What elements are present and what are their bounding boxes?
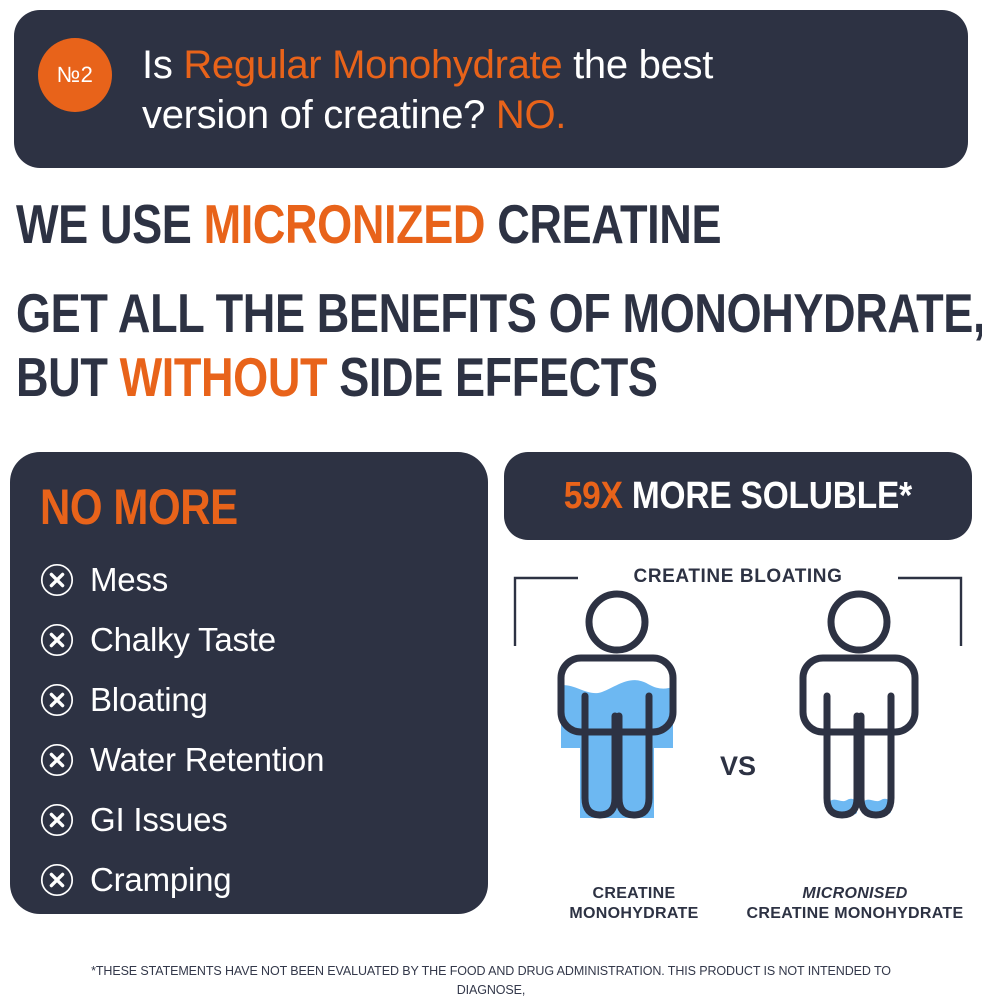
no-more-title: NO MORE <box>40 478 391 536</box>
headline1-suffix: CREATINE <box>485 193 721 255</box>
list-item-label: Water Retention <box>90 741 324 779</box>
list-item-label: Cramping <box>90 861 231 899</box>
caption-left-line1: CREATINE <box>524 884 744 904</box>
caption-left-line2: MONOHYDRATE <box>524 904 744 924</box>
infographic-page: №2 Is Regular Monohydrate the best versi… <box>0 0 982 1003</box>
headline3-suffix: SIDE EFFECTS <box>327 346 657 408</box>
list-item-label: Bloating <box>90 681 208 719</box>
headline1-highlight: MICRONIZED <box>204 193 486 255</box>
bloating-comparison-diagram: CREATINE BLOATING <box>504 566 972 936</box>
headline3-prefix: BUT <box>16 346 120 408</box>
headline-micronized: WE USE MICRONIZED CREATINE <box>16 196 795 254</box>
soluble-card: 59X MORE SOLUBLE* <box>504 452 972 540</box>
bracket-label: CREATINE BLOATING <box>504 566 972 588</box>
list-item: Bloating <box>40 670 458 730</box>
header-line1-highlight: Regular Monohydrate <box>183 43 562 87</box>
soluble-multiplier: 59X <box>564 475 623 517</box>
headline-benefits-line1: GET ALL THE BENEFITS OF MONOHYDRATE, <box>16 282 795 346</box>
no-more-card: NO MORE Mess Chalky Taste <box>10 452 488 914</box>
headline-block: WE USE MICRONIZED CREATINE GET ALL THE B… <box>16 196 966 409</box>
header-question: Is Regular Monohydrate the best version … <box>142 40 952 140</box>
figure-caption-left: CREATINE MONOHYDRATE <box>524 884 744 924</box>
headline3-highlight: WITHOUT <box>120 346 328 408</box>
circle-x-icon <box>40 563 74 597</box>
list-item: Water Retention <box>40 730 458 790</box>
list-item: GI Issues <box>40 790 458 850</box>
caption-right-line2: CREATINE MONOHYDRATE <box>738 904 972 924</box>
disclaimer-line1: *THESE STATEMENTS HAVE NOT BEEN EVALUATE… <box>60 962 922 1000</box>
list-item: Mess <box>40 550 458 610</box>
soluble-title: 59X MORE SOLUBLE* <box>564 475 912 518</box>
circle-x-icon <box>40 863 74 897</box>
circle-x-icon <box>40 623 74 657</box>
circle-x-icon <box>40 803 74 837</box>
header-banner: №2 Is Regular Monohydrate the best versi… <box>14 10 968 168</box>
list-item: Cramping <box>40 850 458 910</box>
list-item-label: Mess <box>90 561 168 599</box>
headline-benefits-line2: BUT WITHOUT SIDE EFFECTS <box>16 346 795 410</box>
list-item-label: Chalky Taste <box>90 621 276 659</box>
figure-head-left <box>589 594 645 650</box>
header-line2-highlight: NO. <box>496 93 566 137</box>
figures-svg <box>504 566 972 876</box>
figure-creatine-monohydrate <box>554 594 682 828</box>
caption-right-emphasis: MICRONISED <box>738 884 972 904</box>
bracket <box>515 578 961 646</box>
soluble-rest: MORE SOLUBLE* <box>623 475 912 517</box>
badge-label: №2 <box>57 62 94 88</box>
list-item: Chalky Taste <box>40 610 458 670</box>
circle-x-icon <box>40 743 74 777</box>
vs-label: VS <box>504 751 972 782</box>
no-more-list: Mess Chalky Taste Bloating <box>40 550 458 910</box>
figure-head-right <box>831 594 887 650</box>
list-item-label: GI Issues <box>90 801 228 839</box>
headline1-prefix: WE USE <box>16 193 204 255</box>
header-line2-prefix: version of creatine? <box>142 93 496 137</box>
legal-disclaimer: *THESE STATEMENTS HAVE NOT BEEN EVALUATE… <box>60 962 922 1003</box>
header-line1-prefix: Is <box>142 43 183 87</box>
figure-caption-right: MICRONISED CREATINE MONOHYDRATE <box>738 884 972 924</box>
step-number-badge: №2 <box>38 38 112 112</box>
disclaimer-line2: TREAT, CURE OR PREVENT ANY DISEASE. <box>60 1000 922 1003</box>
circle-x-icon <box>40 683 74 717</box>
header-line1-suffix: the best <box>562 43 713 87</box>
